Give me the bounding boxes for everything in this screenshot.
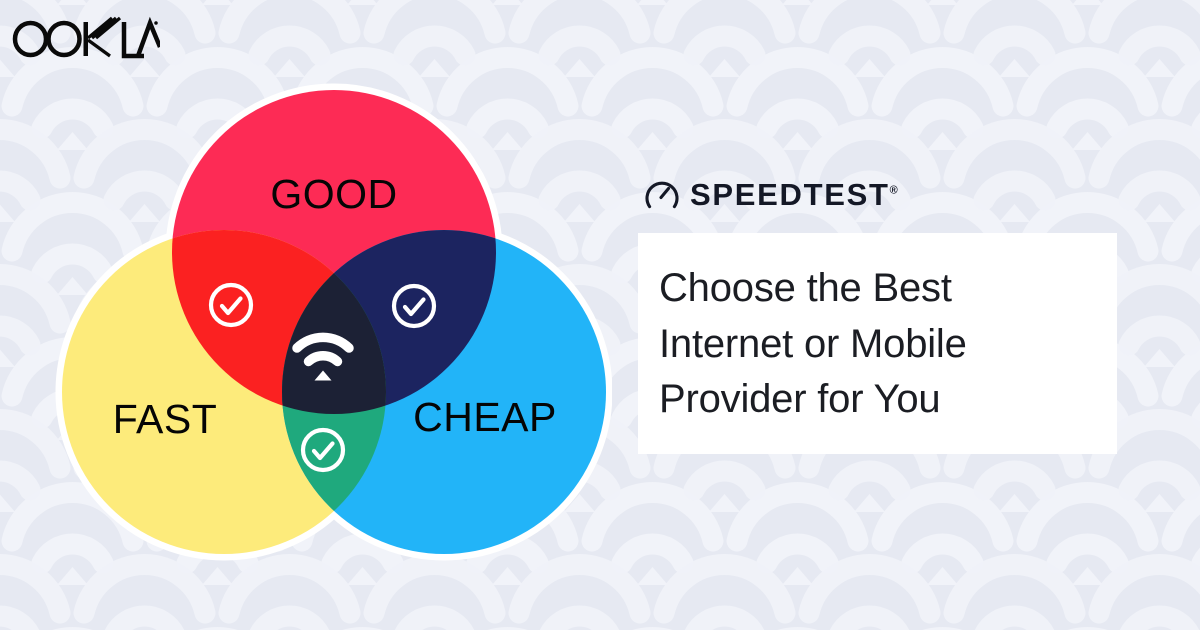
right-content-column: SPEEDTEST® Choose the Best Internet or M… xyxy=(638,170,1120,454)
speedometer-icon xyxy=(645,177,679,211)
speedtest-wordmark: SPEEDTEST® xyxy=(690,179,898,210)
ookla-logo xyxy=(12,16,160,62)
social-card: GOOD FAST CHEAP xyxy=(0,0,1200,630)
venn-label-good: GOOD xyxy=(270,171,397,217)
registered-mark: ® xyxy=(890,184,898,196)
speedtest-logo: SPEEDTEST® xyxy=(638,170,1120,218)
registered-mark-dot xyxy=(154,21,158,25)
speedtest-wordmark-text: SPEEDTEST xyxy=(690,177,890,212)
headline-card: Choose the Best Internet or Mobile Provi… xyxy=(638,233,1117,454)
venn-label-cheap: CHEAP xyxy=(413,394,557,440)
venn-diagram: GOOD FAST CHEAP xyxy=(52,62,612,574)
venn-label-fast: FAST xyxy=(113,396,218,442)
page-title: Choose the Best Internet or Mobile Provi… xyxy=(659,261,1091,428)
